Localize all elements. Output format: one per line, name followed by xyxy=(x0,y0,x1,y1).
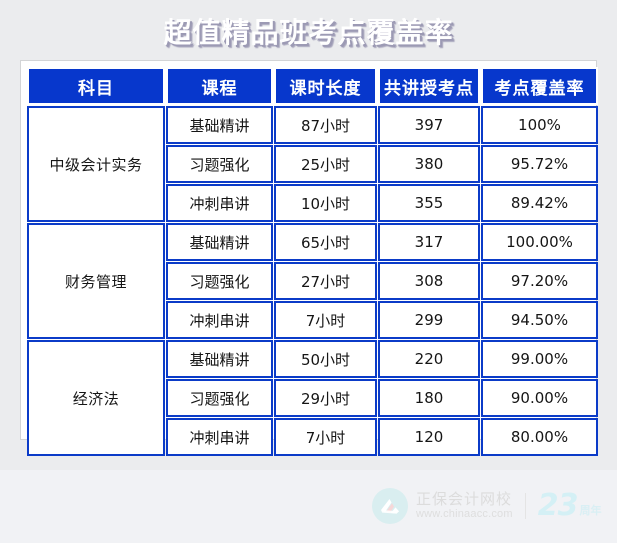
table-row: 经济法 基础精讲 50小时 220 99.00% xyxy=(27,340,598,378)
table-body: 中级会计实务 基础精讲 87小时 397 100% 习题强化 25小时 380 … xyxy=(27,106,598,456)
coverage-table-frame: 科目 课程 课时长度 共讲授考点 考点覆盖率 中级会计实务 基础精讲 87小时 … xyxy=(20,60,597,440)
coverage-cell: 99.00% xyxy=(481,340,598,378)
points-cell: 308 xyxy=(378,262,480,300)
subject-cell: 财务管理 xyxy=(27,223,165,339)
coverage-cell: 97.20% xyxy=(481,262,598,300)
course-cell: 冲刺串讲 xyxy=(166,418,273,456)
coverage-cell: 100% xyxy=(481,106,598,144)
column-header-duration: 课时长度 xyxy=(274,67,377,105)
course-cell: 基础精讲 xyxy=(166,223,273,261)
duration-cell: 50小时 xyxy=(274,340,377,378)
course-cell: 基础精讲 xyxy=(166,340,273,378)
duration-cell: 7小时 xyxy=(274,301,377,339)
column-header-course: 课程 xyxy=(166,67,273,105)
watermark: 正保会计网校 www.chinaacc.com 23 周年 xyxy=(372,484,602,528)
points-cell: 299 xyxy=(378,301,480,339)
anniversary-unit: 周年 xyxy=(579,502,601,518)
column-header-coverage: 考点覆盖率 xyxy=(481,67,598,105)
points-cell: 397 xyxy=(378,106,480,144)
anniversary-number: 23 xyxy=(538,491,578,521)
column-header-subject: 科目 xyxy=(27,67,165,105)
table-head: 科目 课程 课时长度 共讲授考点 考点覆盖率 xyxy=(27,67,598,105)
points-cell: 317 xyxy=(378,223,480,261)
duration-cell: 10小时 xyxy=(274,184,377,222)
course-cell: 习题强化 xyxy=(166,262,273,300)
table-header-row: 科目 课程 课时长度 共讲授考点 考点覆盖率 xyxy=(27,67,598,105)
duration-cell: 29小时 xyxy=(274,379,377,417)
anniversary-badge: 23 周年 xyxy=(538,491,602,521)
coverage-cell: 90.00% xyxy=(481,379,598,417)
coverage-cell: 80.00% xyxy=(481,418,598,456)
duration-cell: 27小时 xyxy=(274,262,377,300)
table-row: 中级会计实务 基础精讲 87小时 397 100% xyxy=(27,106,598,144)
coverage-table: 科目 课程 课时长度 共讲授考点 考点覆盖率 中级会计实务 基础精讲 87小时 … xyxy=(26,66,599,457)
course-cell: 冲刺串讲 xyxy=(166,301,273,339)
page-root: 超值精品班考点覆盖率 科目 课程 课时长度 共讲授考点 考点覆盖率 中级会计实务 xyxy=(0,0,617,543)
brand-url: www.chinaacc.com xyxy=(416,508,513,521)
brand-name: 正保会计网校 xyxy=(416,491,513,508)
column-header-points: 共讲授考点 xyxy=(378,67,480,105)
points-cell: 380 xyxy=(378,145,480,183)
duration-cell: 65小时 xyxy=(274,223,377,261)
duration-cell: 25小时 xyxy=(274,145,377,183)
page-title: 超值精品班考点覆盖率 xyxy=(0,11,617,51)
points-cell: 180 xyxy=(378,379,480,417)
watermark-divider xyxy=(525,493,526,519)
points-cell: 220 xyxy=(378,340,480,378)
watermark-brand: 正保会计网校 www.chinaacc.com xyxy=(416,491,513,521)
coverage-cell: 95.72% xyxy=(481,145,598,183)
subject-cell: 中级会计实务 xyxy=(27,106,165,222)
open-book-icon xyxy=(372,488,408,524)
coverage-cell: 94.50% xyxy=(481,301,598,339)
course-cell: 冲刺串讲 xyxy=(166,184,273,222)
points-cell: 355 xyxy=(378,184,480,222)
duration-cell: 87小时 xyxy=(274,106,377,144)
course-cell: 基础精讲 xyxy=(166,106,273,144)
coverage-cell: 100.00% xyxy=(481,223,598,261)
subject-cell: 经济法 xyxy=(27,340,165,456)
table-row: 财务管理 基础精讲 65小时 317 100.00% xyxy=(27,223,598,261)
duration-cell: 7小时 xyxy=(274,418,377,456)
points-cell: 120 xyxy=(378,418,480,456)
coverage-cell: 89.42% xyxy=(481,184,598,222)
course-cell: 习题强化 xyxy=(166,145,273,183)
course-cell: 习题强化 xyxy=(166,379,273,417)
